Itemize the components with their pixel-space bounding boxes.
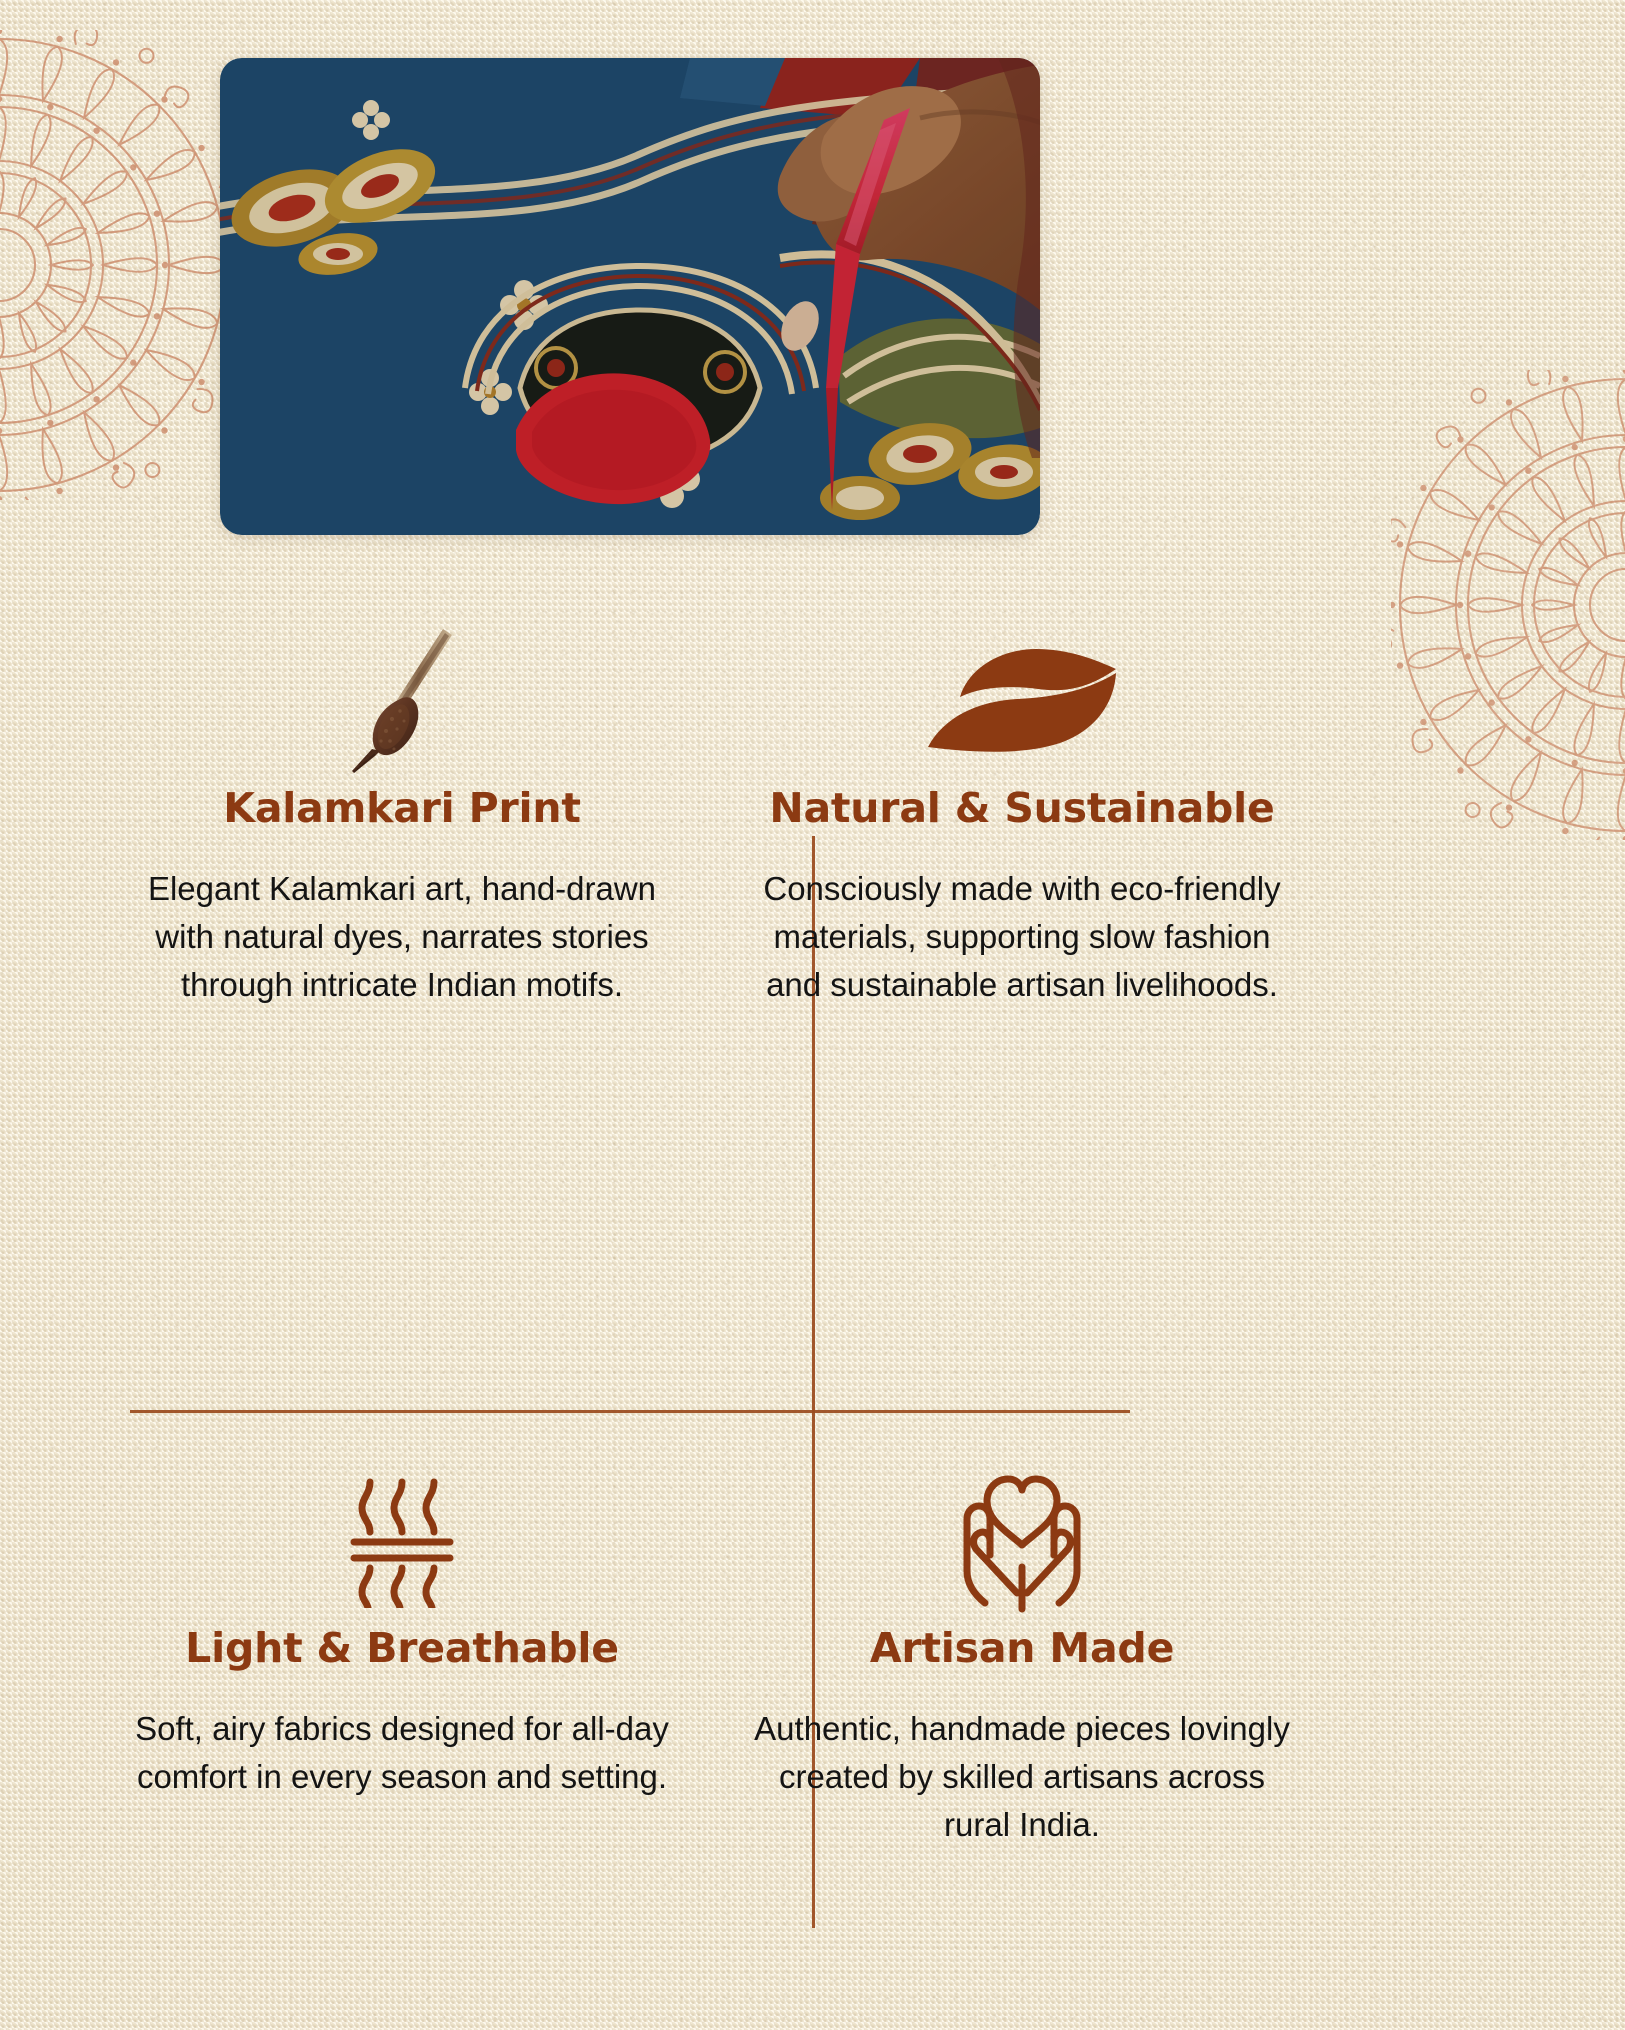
- feature-description: Consciously made with eco-friendly mater…: [742, 865, 1302, 1009]
- hands-holding-heart-icon: [742, 1468, 1302, 1608]
- feature-card-kalamkari-print: Kalamkari Print Elegant Kalamkari art, h…: [122, 628, 682, 1009]
- feature-grid: Kalamkari Print Elegant Kalamkari art, h…: [0, 628, 1625, 1948]
- feature-title: Artisan Made: [742, 1626, 1302, 1671]
- feature-title: Natural & Sustainable: [742, 786, 1302, 831]
- feature-title: Kalamkari Print: [122, 786, 682, 831]
- feature-card-light-breathable: Light & Breathable Soft, airy fabrics de…: [122, 1468, 682, 1801]
- leaf-icon: [742, 628, 1302, 768]
- breathable-fabric-icon: [122, 1468, 682, 1608]
- kalam-pen-icon: [122, 628, 682, 768]
- feature-title: Light & Breathable: [122, 1626, 682, 1671]
- feature-description: Authentic, handmade pieces lovingly crea…: [742, 1705, 1302, 1849]
- feature-description: Soft, airy fabrics designed for all-day …: [122, 1705, 682, 1801]
- kalamkari-painting-photo: [220, 58, 1040, 535]
- feature-card-natural-sustainable: Natural & Sustainable Consciously made w…: [742, 628, 1302, 1009]
- feature-description: Elegant Kalamkari art, hand-drawn with n…: [122, 865, 682, 1009]
- feature-card-artisan-made: Artisan Made Authentic, handmade pieces …: [742, 1468, 1302, 1849]
- grid-horizontal-divider: [130, 1410, 1130, 1413]
